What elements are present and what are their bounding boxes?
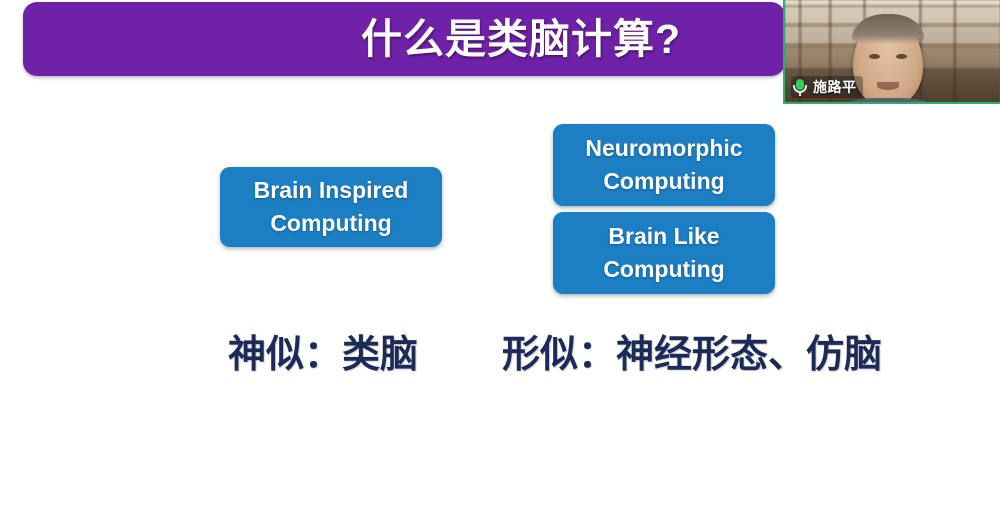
concept-box-line-2: Computing [603,165,724,198]
concept-box-line-1: Brain Inspired [254,174,409,207]
concept-box-line-2: Computing [603,253,724,286]
concept-box-brain-inspired: Brain Inspired Computing [220,167,442,247]
concept-box-line-1: Neuromorphic [585,132,742,165]
presentation-screen: 什么是类脑计算? Brain Inspired Computing Neurom… [0,0,1000,512]
person-head [853,18,923,104]
watermark-zhidx: 智东西 zhidx.com [856,434,986,496]
concept-box-neuromorphic: Neuromorphic Computing [553,124,775,206]
person-torso [828,98,948,104]
participant-name-label: 施路平 [813,77,857,97]
person-hair [852,14,924,44]
watermark-domain-text: zhidx.com [856,475,986,485]
person-eye-right [896,54,907,59]
concept-box-line-2: Computing [270,207,391,240]
participant-video-tile[interactable]: 施路平 [783,0,1000,104]
person-eye-left [869,54,880,59]
slide-title-bar: 什么是类脑计算? [23,2,785,76]
person-mouth [877,82,899,90]
caption-xingsi: 形似：神经形态、仿脑 [502,336,882,374]
concept-box-line-1: Brain Like [608,220,719,253]
microphone-unmuted-icon[interactable] [793,79,807,96]
caption-row: 神似：类脑 形似：神经形态、仿脑 [0,336,1000,396]
slide-title: 什么是类脑计算? [361,19,681,60]
watermark-logo-text: 智东西 [856,434,986,472]
concept-box-brain-like: Brain Like Computing [553,212,775,294]
caption-shensi: 神似：类脑 [228,336,418,374]
participant-name-plate: 施路平 [791,76,863,98]
